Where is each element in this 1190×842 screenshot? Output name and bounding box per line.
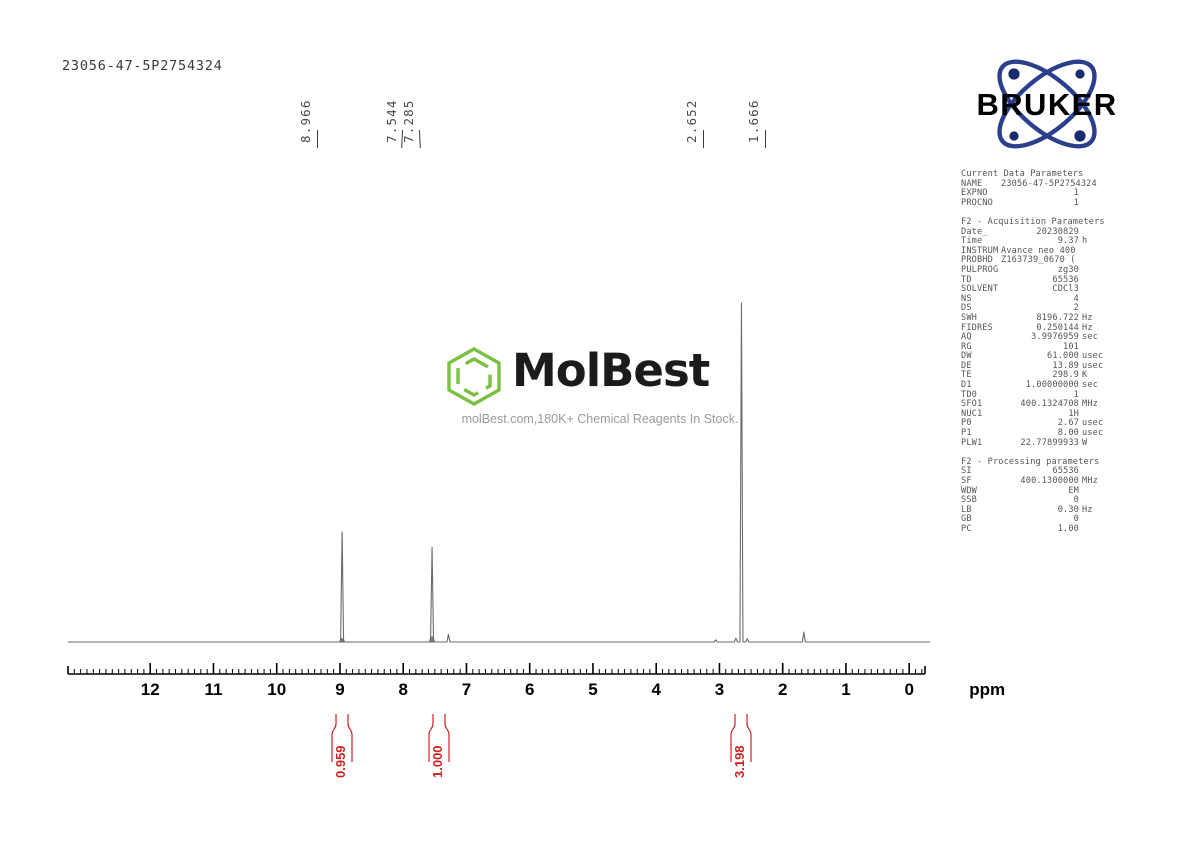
param-unit: MHz	[1082, 477, 1098, 487]
peak-leader-1666	[765, 130, 766, 148]
peak-label-7285: 7.285	[401, 99, 416, 143]
orbit-node-top-right	[1075, 69, 1084, 78]
param-value: 23056-47-5P2754324	[1001, 180, 1097, 190]
axis-tick-1: 1	[841, 680, 850, 700]
peak-label-7544: 7.544	[384, 99, 399, 143]
param-row: LB0.30Hz	[961, 506, 1121, 516]
nmr-spectrum-page: 23056-47-5P2754324 8.966 7.544 7.285 2.6…	[0, 0, 1190, 842]
axis-tick-7: 7	[462, 680, 471, 700]
param-value: CDCl3	[961, 285, 1079, 295]
param-row: WDWEM	[961, 487, 1121, 497]
hexagon-ring-icon	[443, 346, 505, 406]
orbit-node-top-left	[1008, 68, 1019, 79]
spectrum-title: 23056-47-5P2754324	[62, 58, 223, 74]
param-row: SFO1400.1324708MHz	[961, 400, 1121, 410]
bruker-wordmark: BRUKER	[976, 87, 1117, 122]
axis-tick-3: 3	[715, 680, 724, 700]
orbit-node-bottom-left	[1009, 131, 1018, 140]
param-unit: W	[1082, 439, 1087, 449]
param-list-processing: SI65536SF400.1300000MHzWDWEMSSB0LB0.30Hz…	[961, 467, 1121, 534]
axis-tick-6: 6	[525, 680, 534, 700]
axis-tick-4: 4	[651, 680, 660, 700]
param-row: Date_20230829	[961, 228, 1121, 238]
integral-value: 3.198	[732, 745, 747, 778]
axis-tick-8: 8	[398, 680, 407, 700]
ppm-axis: 1211109876543210 ppm	[60, 660, 940, 720]
axis-tick-11: 11	[204, 680, 222, 700]
param-value: 3.9976959	[961, 333, 1079, 343]
peak-leader-7285	[419, 130, 421, 148]
axis-tick-9: 9	[335, 680, 344, 700]
param-list-current-data: NAME23056-47-5P2754324EXPNO1PROCNO1	[961, 180, 1121, 209]
param-list-acquisition: Date_20230829Time9.37hINSTRUMAvance neo …	[961, 228, 1121, 449]
param-value: 1.00000000	[961, 381, 1079, 391]
molbest-wordmark: MolBest	[512, 344, 709, 397]
peak-leader-8966	[317, 130, 318, 148]
param-value: 0.30	[961, 506, 1079, 516]
ppm-unit-label: ppm	[969, 680, 1005, 700]
param-row: DE13.89usec	[961, 362, 1121, 372]
axis-tick-5: 5	[588, 680, 597, 700]
param-row: SF400.1300000MHz	[961, 477, 1121, 487]
orbit-node-bottom-right	[1074, 130, 1085, 141]
param-row: SSB0	[961, 496, 1121, 506]
param-row: AQ3.9976959sec	[961, 333, 1121, 343]
axis-tick-10: 10	[267, 680, 286, 700]
param-row: PROCNO1	[961, 199, 1121, 209]
param-value: 1.00	[961, 525, 1079, 535]
param-value: EM	[961, 487, 1079, 497]
axis-tick-12: 12	[141, 680, 160, 700]
axis-tick-2: 2	[778, 680, 787, 700]
param-unit: Hz	[1082, 506, 1093, 516]
param-row: NS4	[961, 295, 1121, 305]
peak-label-1666: 1.666	[746, 99, 761, 143]
param-unit: MHz	[1082, 400, 1098, 410]
integral-value: 0.959	[333, 745, 348, 778]
param-row: PULPROGzg30	[961, 266, 1121, 276]
param-row: PLW122.77899933W	[961, 439, 1121, 449]
molbest-watermark: MolBest molBest.com,180K+ Chemical Reage…	[443, 342, 753, 434]
param-value: 22.77899933	[961, 439, 1079, 449]
param-row: SOLVENTCDCl3	[961, 285, 1121, 295]
param-value: 4	[961, 295, 1079, 305]
param-row: PC1.00	[961, 525, 1121, 535]
param-row: GB0	[961, 515, 1121, 525]
peak-label-8966: 8.966	[298, 99, 313, 143]
param-value: 1	[961, 199, 1079, 209]
param-row: D11.00000000sec	[961, 381, 1121, 391]
axis-tick-0: 0	[904, 680, 913, 700]
param-unit: sec	[1082, 381, 1098, 391]
param-unit: sec	[1082, 333, 1098, 343]
bruker-logo: BRUKER	[958, 52, 1136, 157]
peak-leader-2652	[703, 130, 704, 148]
param-unit: h	[1082, 237, 1087, 247]
axis-ruler	[60, 660, 940, 682]
param-value: 400.1300000	[961, 477, 1079, 487]
molbest-tagline: molBest.com,180K+ Chemical Reagents In S…	[445, 412, 755, 426]
param-section-processing: F2 - Processing parameters	[961, 458, 1121, 468]
acquisition-parameter-block: Current Data Parameters NAME23056-47-5P2…	[961, 170, 1121, 535]
peak-label-2652: 2.652	[684, 99, 699, 143]
integral-value: 1.000	[430, 745, 445, 778]
